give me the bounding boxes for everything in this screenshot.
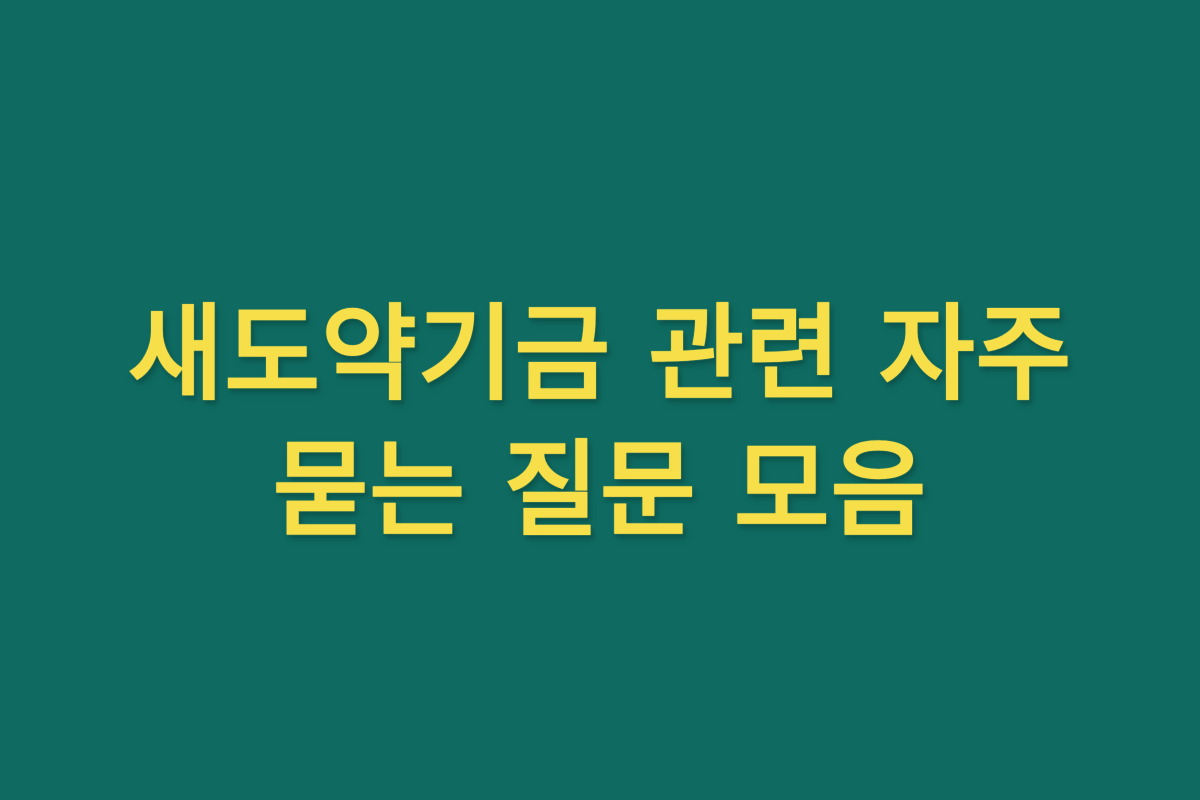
- title-line-2: 묻는 질문 모음: [0, 422, 1200, 558]
- page-title: 새도약기금 관련 자주 묻는 질문 모음: [0, 286, 1200, 558]
- title-line-1: 새도약기금 관련 자주: [0, 286, 1200, 422]
- banner-canvas: 새도약기금 관련 자주 묻는 질문 모음: [0, 0, 1200, 800]
